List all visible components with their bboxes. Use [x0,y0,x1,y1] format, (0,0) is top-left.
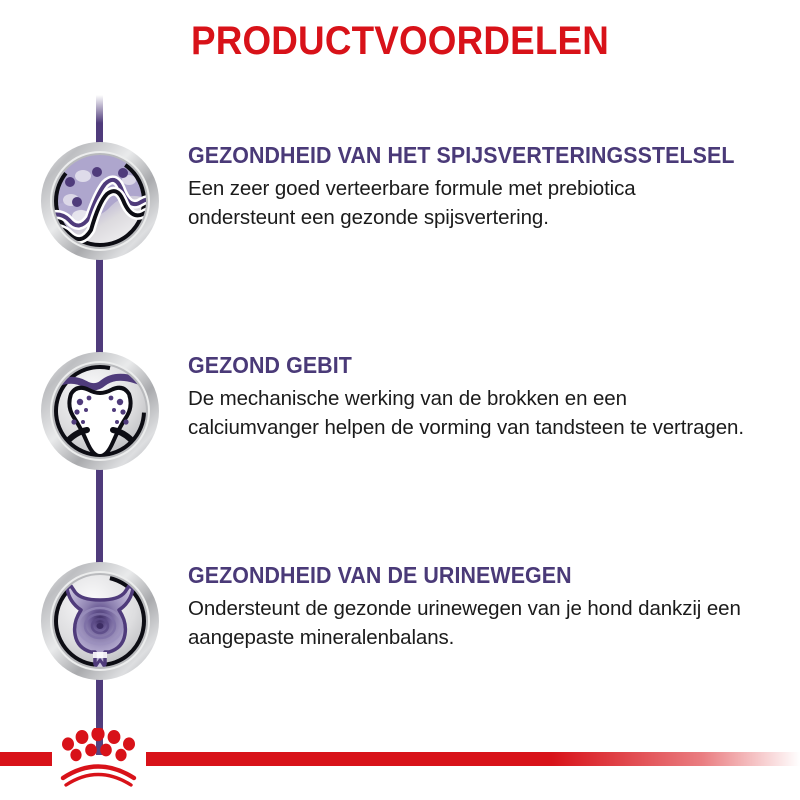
dental-health-icon [37,350,163,476]
benefit-body: De mechanische werking van de brokken en… [188,384,748,442]
benefit-body: Ondersteunt de gezonde urinewegen van je… [188,594,748,652]
benefit-heading: GEZONDHEID VAN HET SPIJSVERTERINGSSTELSE… [188,142,746,169]
product-benefits-page: PRODUCTVOORDELEN [0,0,800,800]
footer-rule-right [146,752,800,766]
footer-rule-left [0,752,52,766]
benefit-heading: GEZOND GEBIT [188,352,746,379]
urinary-health-icon [37,560,163,686]
benefit-text-block: GEZONDHEID VAN DE URINEWEGEN Ondersteunt… [188,562,788,652]
page-title: PRODUCTVOORDELEN [32,18,768,64]
benefit-heading: GEZONDHEID VAN DE URINEWEGEN [188,562,746,589]
digestive-health-icon [37,140,163,266]
royal-canin-crown-logo [52,728,146,788]
benefit-text-block: GEZONDHEID VAN HET SPIJSVERTERINGSSTELSE… [188,142,788,232]
benefit-body: Een zeer goed verteerbare formule met pr… [188,174,748,232]
benefit-text-block: GEZOND GEBIT De mechanische werking van … [188,352,788,442]
